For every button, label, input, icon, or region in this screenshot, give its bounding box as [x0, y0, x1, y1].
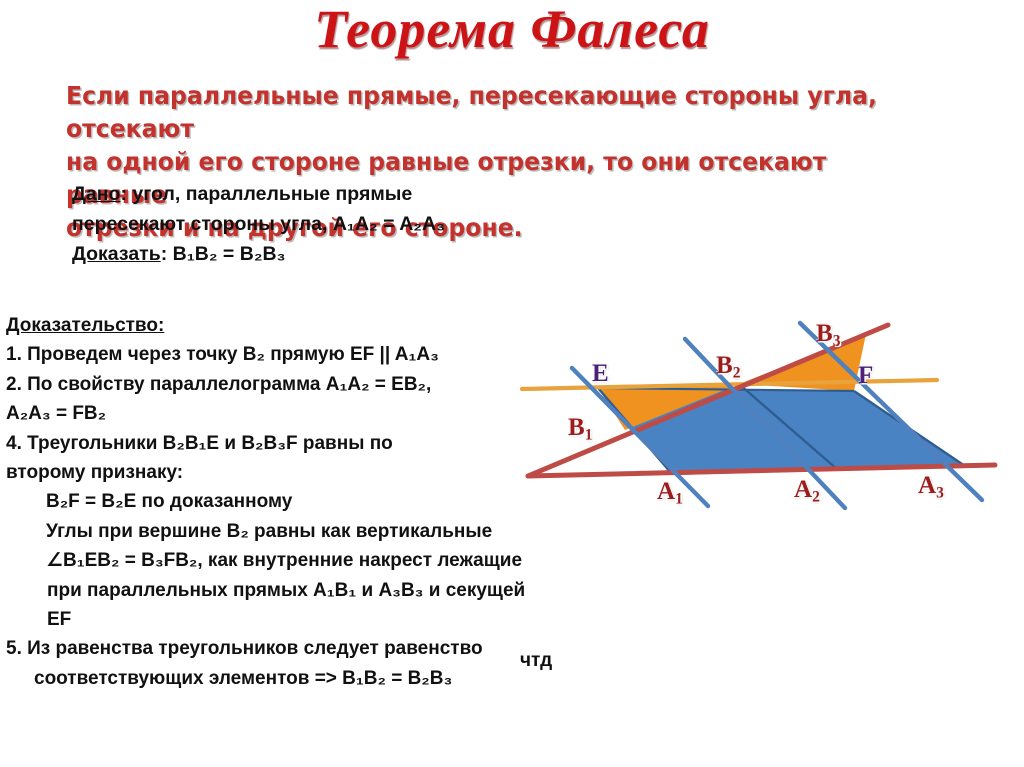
proof-subitem-2-number: 2) — [6, 517, 46, 546]
proof-step-2a: 2. По свойству параллелограмма A₁A₂ = EB… — [6, 370, 566, 399]
given-line-2: пересекают стороны угла, A₁A₂ = A₂A₃ — [72, 209, 592, 239]
proof-subitem-1-text: B₂F = B₂E по доказанному — [46, 491, 292, 512]
proof-subitem-2-text: Углы при вершине B₂ равны как вертикальн… — [46, 521, 492, 542]
qed-label: чтд — [520, 650, 552, 672]
prove-label: Доказать — [72, 243, 161, 265]
page-title: Теорема Фалеса — [0, 0, 1024, 60]
proof-subitem-3-text: ∠B₁EB₂ = B₃FB₂, как внутренние накрест л… — [46, 550, 522, 571]
slide-root: Теорема Фалеса Если параллельные прямые,… — [0, 0, 1024, 767]
proof-subitem-3-cont-2: EF — [6, 605, 566, 634]
given-line-1-rest: : угол, параллельные прямые — [120, 183, 412, 205]
statement-line-1: Если параллельные прямые, пересекающие с… — [66, 79, 935, 145]
proof-subitem-2: 2)Углы при вершине B₂ равны как вертикал… — [6, 517, 566, 546]
proof-heading: Доказательство: — [6, 311, 566, 340]
proof-subitem-1: 1)B₂F = B₂E по доказанному — [6, 487, 566, 516]
proof-step-4a: 4. Треугольники B₂B₁E и B₂B₃F равны по — [6, 429, 566, 458]
prove-line-rest: : B₁B₂ = B₂B₃ — [161, 243, 286, 265]
proof-subitem-3-number: 3) — [6, 546, 46, 575]
prove-line: Доказать: B₁B₂ = B₂B₃ — [72, 239, 592, 269]
proof-subitem-3-cont-1: при параллельных прямых A₁B₁ и A₃B₃ и се… — [6, 576, 566, 605]
proof-subitem-1-number: 1) — [6, 487, 46, 516]
proof-step-5b: соответствующих элементов => B₁B₂ = B₂B₃ — [6, 664, 566, 693]
proof-step-1: 1. Проведем через точку B₂ прямую EF || … — [6, 340, 566, 369]
given-line-1: Дано: угол, параллельные прямые — [72, 179, 592, 209]
proof-step-4b: второму признаку: — [6, 458, 566, 487]
thales-diagram: E F B1 B2 B3 A1 A2 A3 — [500, 310, 1024, 540]
proof-subitem-3: 3)∠B₁EB₂ = B₃FB₂, как внутренние накрест… — [6, 546, 566, 575]
given-label: Дано — [72, 183, 120, 205]
thales-diagram-svg — [500, 310, 1024, 540]
proof-block: Доказательство: 1. Проведем через точку … — [6, 311, 566, 693]
proof-step-5a: 5. Из равенства треугольников следует ра… — [6, 634, 566, 663]
given-block: Дано: угол, параллельные прямые пересека… — [72, 179, 592, 269]
proof-step-2b: A₂A₃ = FB₂ — [6, 399, 566, 428]
